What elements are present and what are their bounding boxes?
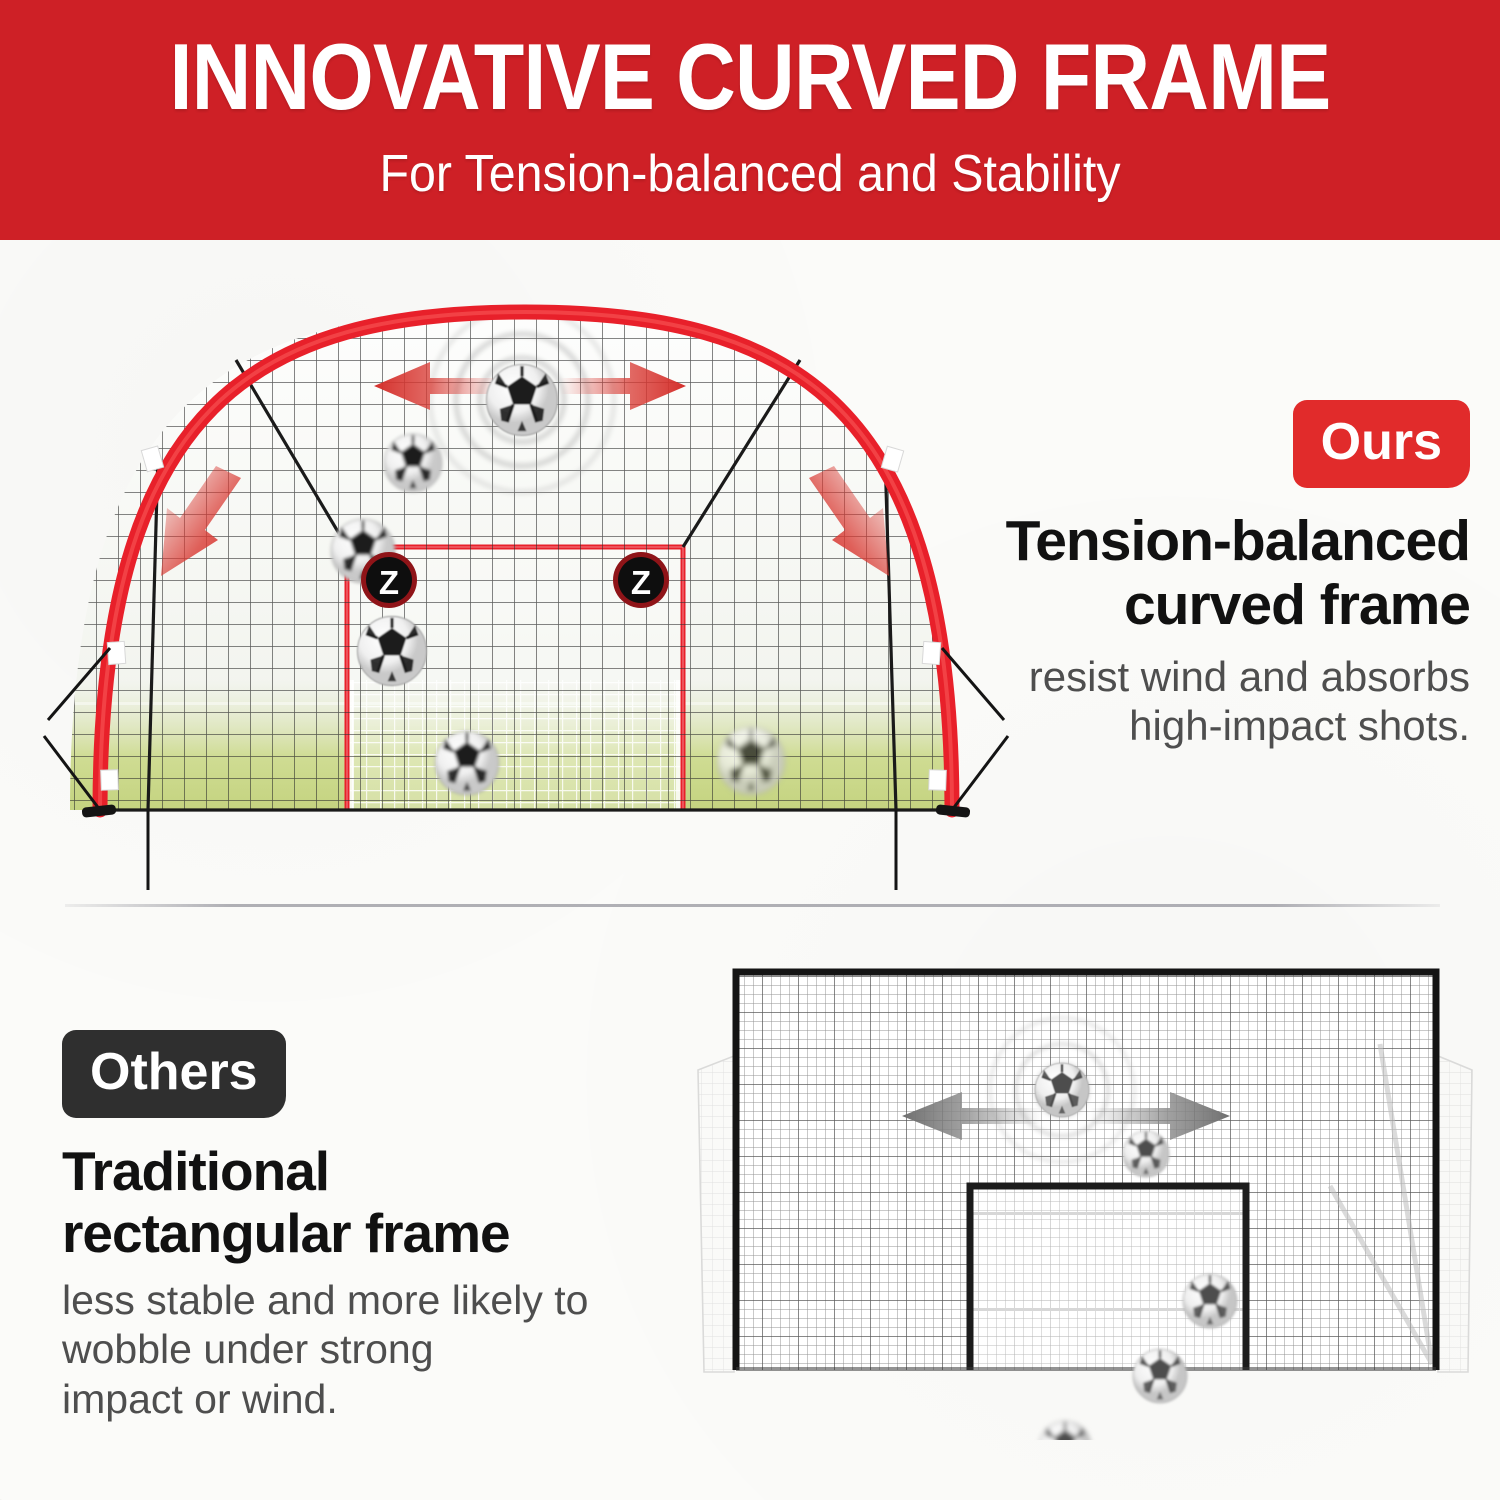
others-headline-line2: rectangular frame — [62, 1202, 682, 1264]
ours-text-block: Ours Tension-balanced curved frame resis… — [970, 400, 1470, 750]
others-text-block: Others Traditional rectangular frame les… — [62, 1030, 682, 1424]
ours-headline-line1: Tension-balanced — [970, 510, 1470, 574]
svg-text:Z: Z — [631, 564, 651, 601]
header-banner: INNOVATIVE CURVED FRAME For Tension-bala… — [0, 0, 1500, 240]
ours-badge: Ours — [1293, 400, 1470, 488]
infographic-page: INNOVATIVE CURVED FRAME For Tension-bala… — [0, 0, 1500, 1500]
others-headline: Traditional rectangular frame — [62, 1140, 682, 1264]
others-body-line1: less stable and more likely to — [62, 1276, 682, 1325]
others-body-line2: wobble under strong — [62, 1325, 682, 1374]
section-divider — [65, 904, 1440, 907]
ours-body-line2: high-impact shots. — [970, 701, 1470, 750]
page-title: INNOVATIVE CURVED FRAME — [90, 30, 1410, 124]
ours-illustration: Z Z — [30, 250, 1020, 900]
ours-headline: Tension-balanced curved frame — [970, 510, 1470, 638]
ours-headline-line2: curved frame — [970, 574, 1470, 638]
ours-body: resist wind and absorbs high-impact shot… — [970, 652, 1470, 750]
brand-mark-left: Z — [361, 552, 417, 608]
others-badge: Others — [62, 1030, 286, 1118]
others-body-line3: impact or wind. — [62, 1375, 682, 1424]
ours-body-line1: resist wind and absorbs — [970, 652, 1470, 701]
others-body: less stable and more likely to wobble un… — [62, 1276, 682, 1424]
brand-mark-right: Z — [613, 552, 669, 608]
others-headline-line1: Traditional — [62, 1140, 682, 1202]
svg-text:Z: Z — [379, 564, 399, 601]
page-subtitle: For Tension-balanced and Stability — [53, 148, 1448, 200]
others-illustration — [690, 940, 1480, 1440]
